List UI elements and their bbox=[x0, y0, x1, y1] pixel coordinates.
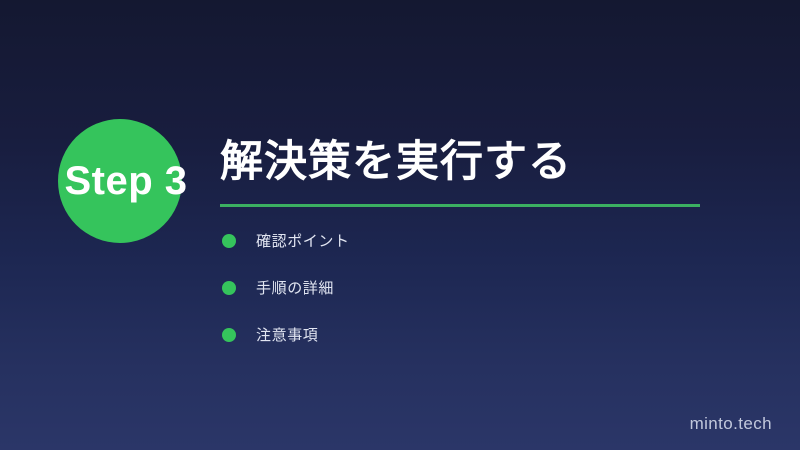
bullet-dot-icon bbox=[222, 328, 236, 342]
slide-canvas: Step 3 解決策を実行する 確認ポイント 手順の詳細 注意事項 minto.… bbox=[0, 0, 800, 450]
bullet-label: 手順の詳細 bbox=[256, 281, 334, 296]
list-item: 手順の詳細 bbox=[220, 273, 720, 303]
watermark: minto.tech bbox=[690, 414, 772, 434]
bullet-dot-icon bbox=[222, 281, 236, 295]
list-item: 確認ポイント bbox=[220, 226, 720, 256]
slide-content: 解決策を実行する 確認ポイント 手順の詳細 注意事項 bbox=[220, 138, 720, 367]
bullet-label: 注意事項 bbox=[256, 328, 318, 343]
list-item: 注意事項 bbox=[220, 320, 720, 350]
title-divider bbox=[220, 204, 700, 207]
bullet-dot-icon bbox=[222, 234, 236, 248]
step-badge-label: Step 3 bbox=[46, 161, 206, 201]
bullet-label: 確認ポイント bbox=[256, 234, 350, 249]
bullet-list: 確認ポイント 手順の詳細 注意事項 bbox=[220, 226, 720, 350]
step-badge: Step 3 bbox=[58, 119, 182, 243]
slide-title: 解決策を実行する bbox=[220, 138, 720, 186]
